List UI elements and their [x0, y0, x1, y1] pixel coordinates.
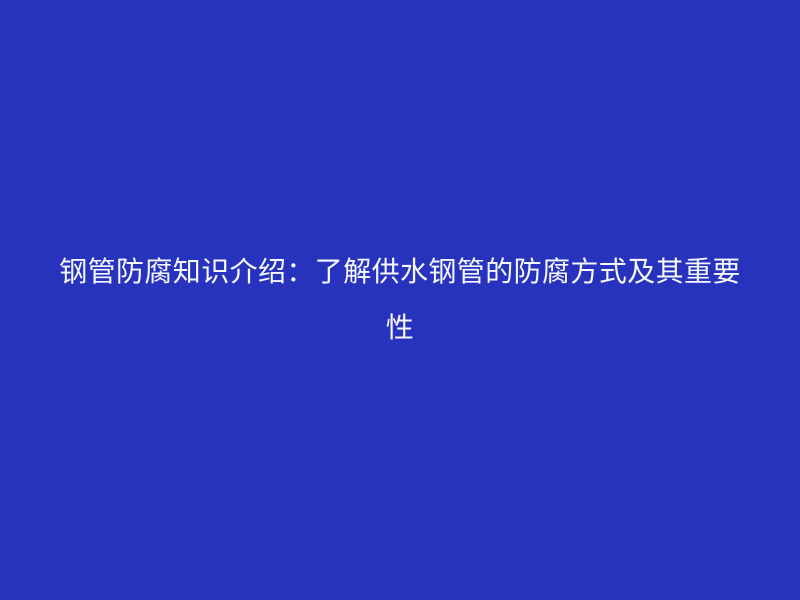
- article-title-card: 钢管防腐知识介绍：了解供水钢管的防腐方式及其重要性: [0, 0, 800, 600]
- page-title: 钢管防腐知识介绍：了解供水钢管的防腐方式及其重要性: [50, 244, 750, 356]
- title-block: 钢管防腐知识介绍：了解供水钢管的防腐方式及其重要性: [50, 244, 750, 356]
